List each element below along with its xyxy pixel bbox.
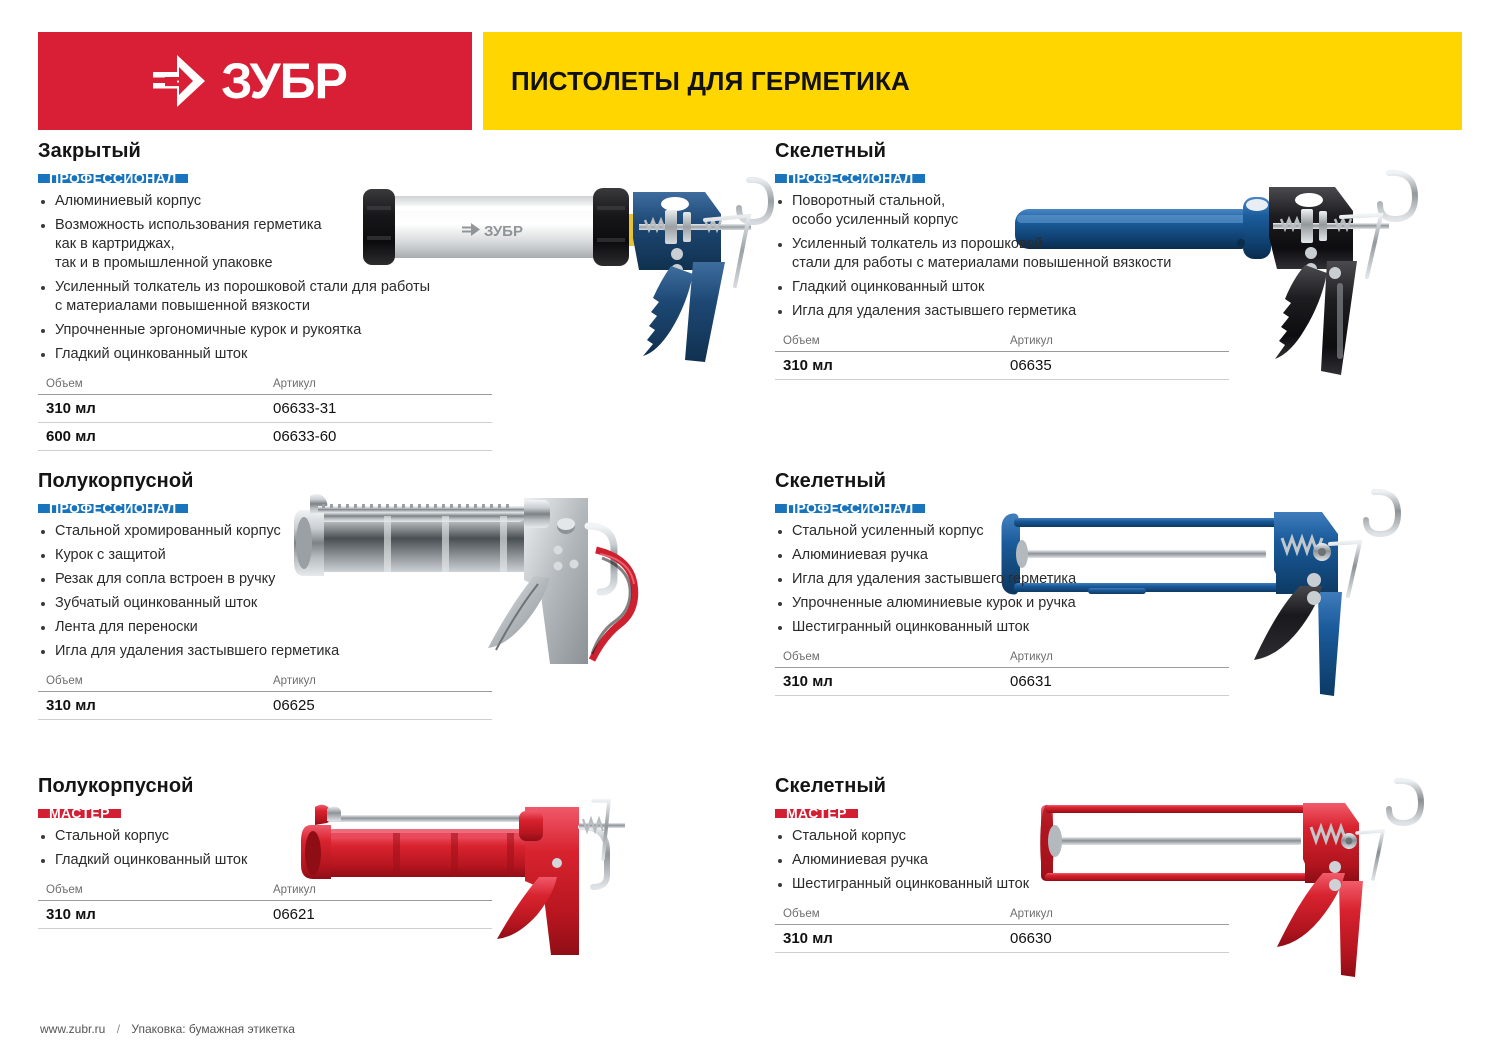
feature-list: Стальной корпус Гладкий оцинкованный што… <box>38 827 738 870</box>
column-header-sku: Артикул <box>265 879 492 901</box>
left-column: ЗУБР <box>38 140 738 975</box>
cell-sku: 06635 <box>1002 352 1229 380</box>
product-block-5: Скелетный МАСТЕР Стальной корпус Алюмини… <box>775 775 1475 975</box>
product-title: Полукорпусной <box>38 470 738 493</box>
right-column: Скелетный ПРОФЕССИОНАЛ Поворотный стальн… <box>775 140 1475 975</box>
product-badge: МАСТЕР <box>38 809 121 818</box>
product-info-5: Скелетный МАСТЕР Стальной корпус Алюмини… <box>775 775 1475 953</box>
product-badge: ПРОФЕССИОНАЛ <box>38 504 188 513</box>
column-header-sku: Артикул <box>1002 330 1229 352</box>
table-row: 310 мл 06635 <box>775 352 1229 380</box>
feature-list: Стальной корпус Алюминиевая ручка Шестиг… <box>775 827 1475 894</box>
product-badge: ПРОФЕССИОНАЛ <box>38 174 188 183</box>
page-header: ЗУБР ПИСТОЛЕТЫ ДЛЯ ГЕРМЕТИКА <box>0 32 1500 130</box>
spec-table: Объем Артикул 310 мл 06631 <box>775 646 1229 696</box>
feature-item: Алюминиевая ручка <box>775 546 1475 565</box>
feature-item: Усиленный толкатель из порошковой стали … <box>775 235 1475 273</box>
page-footer: www.zubr.ru / Упаковка: бумажная этикетк… <box>40 1022 295 1036</box>
feature-item: Резак для сопла встроен в ручку <box>38 570 738 589</box>
cell-volume: 310 мл <box>775 668 1002 696</box>
feature-list: Стальной усиленный корпус Алюминиевая ру… <box>775 522 1475 637</box>
cell-sku: 06630 <box>1002 925 1229 953</box>
feature-item: Игла для удаления застывшего герметика <box>775 570 1475 589</box>
table-row: 310 мл 06621 <box>38 901 492 929</box>
product-info-3: Скелетный ПРОФЕССИОНАЛ Стальной усиленны… <box>775 470 1475 696</box>
page-title-banner: ПИСТОЛЕТЫ ДЛЯ ГЕРМЕТИКА <box>483 32 1462 130</box>
product-info-2: Полукорпусной ПРОФЕССИОНАЛ Стальной хром… <box>38 470 738 720</box>
product-title: Полукорпусной <box>38 775 738 798</box>
spec-table: Объем Артикул 310 мл 06635 <box>775 330 1229 380</box>
cell-volume: 310 мл <box>38 901 265 929</box>
product-info-4: Полукорпусной МАСТЕР Стальной корпус Гла… <box>38 775 738 929</box>
column-header-sku: Артикул <box>265 373 492 395</box>
column-header-sku: Артикул <box>1002 903 1229 925</box>
cell-volume: 310 мл <box>38 692 265 720</box>
product-title: Скелетный <box>775 470 1475 493</box>
cell-sku: 06631 <box>1002 668 1229 696</box>
feature-item: Упрочненные алюминиевые курок и ручка <box>775 594 1475 613</box>
footer-packaging: Упаковка: бумажная этикетка <box>131 1022 295 1036</box>
feature-list: Алюминиевый корпус Возможность использов… <box>38 192 738 364</box>
feature-item: Шестигранный оцинкованный шток <box>775 875 1475 894</box>
feature-item: Гладкий оцинкованный шток <box>38 851 738 870</box>
cell-sku: 06633-31 <box>265 395 492 423</box>
feature-item: Усиленный толкатель из порошковой стали … <box>38 278 738 316</box>
feature-item: Стальной корпус <box>38 827 738 846</box>
product-badge: ПРОФЕССИОНАЛ <box>775 504 925 513</box>
cell-sku: 06621 <box>265 901 492 929</box>
page-title: ПИСТОЛЕТЫ ДЛЯ ГЕРМЕТИКА <box>511 66 910 97</box>
feature-item: Упрочненные эргономичные курок и рукоятк… <box>38 321 738 340</box>
product-block-1: Скелетный ПРОФЕССИОНАЛ Поворотный стальн… <box>775 140 1475 470</box>
feature-item: Зубчатый оцинкованный шток <box>38 594 738 613</box>
product-block-2: Полукорпусной ПРОФЕССИОНАЛ Стальной хром… <box>38 470 738 775</box>
feature-item: Курок с защитой <box>38 546 738 565</box>
feature-item: Игла для удаления застывшего герметика <box>775 302 1475 321</box>
footer-website[interactable]: www.zubr.ru <box>40 1022 105 1036</box>
column-header-sku: Артикул <box>1002 646 1229 668</box>
product-badge: МАСТЕР <box>775 809 858 818</box>
cell-sku: 06625 <box>265 692 492 720</box>
cell-sku: 06633-60 <box>265 423 492 451</box>
table-row: 600 мл 06633-60 <box>38 423 492 451</box>
table-row: 310 мл 06633-31 <box>38 395 492 423</box>
spec-table: Объем Артикул 310 мл 06621 <box>38 879 492 929</box>
column-header-volume: Объем <box>775 646 1002 668</box>
feature-item: Стальной корпус <box>775 827 1475 846</box>
product-title: Скелетный <box>775 775 1475 798</box>
footer-separator: / <box>117 1022 120 1036</box>
product-title: Закрытый <box>38 140 738 163</box>
product-title: Скелетный <box>775 140 1475 163</box>
product-info-1: Скелетный ПРОФЕССИОНАЛ Поворотный стальн… <box>775 140 1475 380</box>
product-block-3: Скелетный ПРОФЕССИОНАЛ Стальной усиленны… <box>775 470 1475 775</box>
table-row: 310 мл 06625 <box>38 692 492 720</box>
feature-item: Стальной усиленный корпус <box>775 522 1475 541</box>
spec-table: Объем Артикул 310 мл 06633-31 600 мл 066… <box>38 373 492 451</box>
zubr-arrow-icon <box>151 53 207 109</box>
column-header-volume: Объем <box>38 670 265 692</box>
feature-item: Поворотный стальной, особо усиленный кор… <box>775 192 1475 230</box>
feature-item: Возможность использования герметика как … <box>38 216 738 273</box>
cell-volume: 310 мл <box>775 925 1002 953</box>
column-header-volume: Объем <box>775 330 1002 352</box>
column-header-sku: Артикул <box>265 670 492 692</box>
feature-item: Гладкий оцинкованный шток <box>775 278 1475 297</box>
product-block-0: ЗУБР <box>38 140 738 470</box>
feature-item: Стальной хромированный корпус <box>38 522 738 541</box>
cell-volume: 310 мл <box>38 395 265 423</box>
feature-item: Шестигранный оцинкованный шток <box>775 618 1475 637</box>
cell-volume: 600 мл <box>38 423 265 451</box>
table-row: 310 мл 06631 <box>775 668 1229 696</box>
brand-name: ЗУБР <box>221 56 347 106</box>
product-block-4: Полукорпусной МАСТЕР Стальной корпус Гла… <box>38 775 738 975</box>
feature-item: Лента для переноски <box>38 618 738 637</box>
brand-logo: ЗУБР <box>38 32 472 130</box>
catalog-page: ЗУБР ПИСТОЛЕТЫ ДЛЯ ГЕРМЕТИКА <box>0 0 1500 1060</box>
spec-table: Объем Артикул 310 мл 06630 <box>775 903 1229 953</box>
feature-item: Гладкий оцинкованный шток <box>38 345 738 364</box>
product-badge: ПРОФЕССИОНАЛ <box>775 174 925 183</box>
spec-table: Объем Артикул 310 мл 06625 <box>38 670 492 720</box>
feature-item: Алюминиевая ручка <box>775 851 1475 870</box>
table-row: 310 мл 06630 <box>775 925 1229 953</box>
column-header-volume: Объем <box>775 903 1002 925</box>
feature-list: Поворотный стальной, особо усиленный кор… <box>775 192 1475 321</box>
product-info-0: Закрытый ПРОФЕССИОНАЛ Алюминиевый корпус… <box>38 140 738 451</box>
column-header-volume: Объем <box>38 879 265 901</box>
feature-item: Игла для удаления застывшего герметика <box>38 642 738 661</box>
feature-item: Алюминиевый корпус <box>38 192 738 211</box>
feature-list: Стальной хромированный корпус Курок с за… <box>38 522 738 661</box>
column-header-volume: Объем <box>38 373 265 395</box>
cell-volume: 310 мл <box>775 352 1002 380</box>
